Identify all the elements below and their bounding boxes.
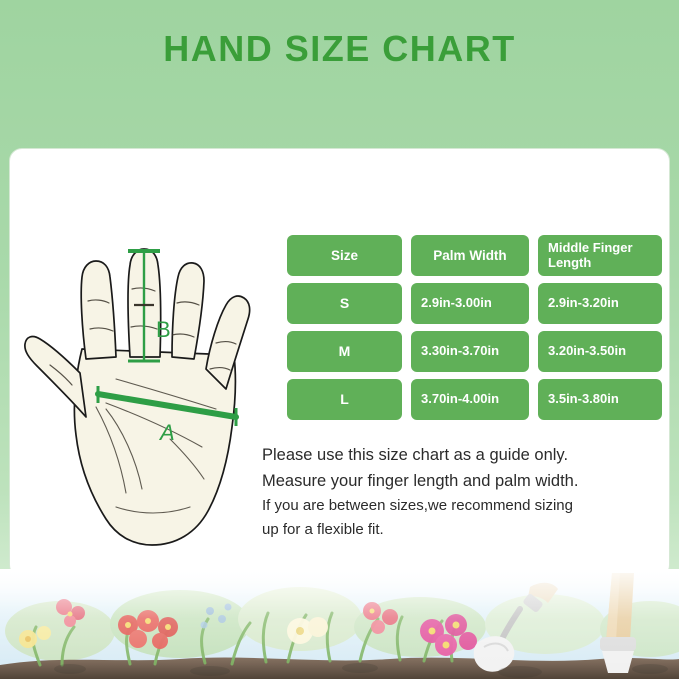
cell-size-m: M	[287, 331, 402, 372]
cell-finger-length-l: 3.5in-3.80in	[538, 379, 662, 420]
note-line-3: If you are between sizes,we recommend si…	[262, 494, 662, 518]
column-header-palm-width: Palm Width	[411, 235, 529, 276]
table-header-row: Size Palm Width Middle Finger Length	[287, 235, 662, 276]
cell-palm-width-m: 3.30in-3.70in	[411, 331, 529, 372]
table-row: M 3.30in-3.70in 3.20in-3.50in	[287, 331, 662, 372]
cell-finger-length-s: 2.9in-3.20in	[538, 283, 662, 324]
marker-a-label: A	[158, 420, 175, 445]
column-header-size: Size	[287, 235, 402, 276]
page-header: HAND SIZE CHART	[0, 28, 679, 70]
marker-b-label: B	[156, 317, 171, 342]
note-line-2: Measure your finger length and palm widt…	[262, 468, 662, 494]
note-line-1: Please use this size chart as a guide on…	[262, 442, 662, 468]
size-chart-card: B A Size Palm Width Middle Finger Length…	[9, 148, 670, 578]
cell-size-s: S	[287, 283, 402, 324]
table-row: S 2.9in-3.00in 2.9in-3.20in	[287, 283, 662, 324]
size-table: Size Palm Width Middle Finger Length S 2…	[287, 235, 662, 427]
cell-palm-width-s: 2.9in-3.00in	[411, 283, 529, 324]
cell-finger-length-m: 3.20in-3.50in	[538, 331, 662, 372]
hand-palm-diagram: B A	[20, 177, 285, 567]
note-line-4: up for a flexible fit.	[262, 518, 662, 542]
garden-photo-strip	[0, 569, 679, 679]
cell-size-l: L	[287, 379, 402, 420]
cell-palm-width-l: 3.70in-4.00in	[411, 379, 529, 420]
guidance-notes: Please use this size chart as a guide on…	[262, 442, 662, 542]
page-title: HAND SIZE CHART	[0, 28, 679, 70]
column-header-finger-length: Middle Finger Length	[538, 235, 662, 276]
table-row: L 3.70in-4.00in 3.5in-3.80in	[287, 379, 662, 420]
